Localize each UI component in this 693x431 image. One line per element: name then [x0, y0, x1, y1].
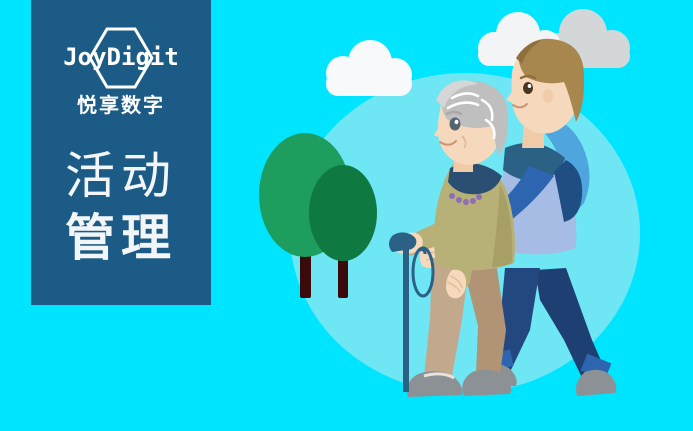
brand-subtitle: 悦享数字	[77, 93, 165, 119]
page-title-line1: 活动	[65, 145, 177, 207]
poster-canvas: JoyDigit 悦享数字 活动 管理	[0, 0, 693, 431]
brand-logo: JoyDigit	[46, 27, 196, 89]
title-panel: JoyDigit 悦享数字 活动 管理	[31, 0, 211, 305]
page-title-line2: 管理	[65, 207, 177, 269]
page-title: 活动 管理	[65, 145, 177, 269]
brand-name: JoyDigit	[46, 41, 196, 73]
